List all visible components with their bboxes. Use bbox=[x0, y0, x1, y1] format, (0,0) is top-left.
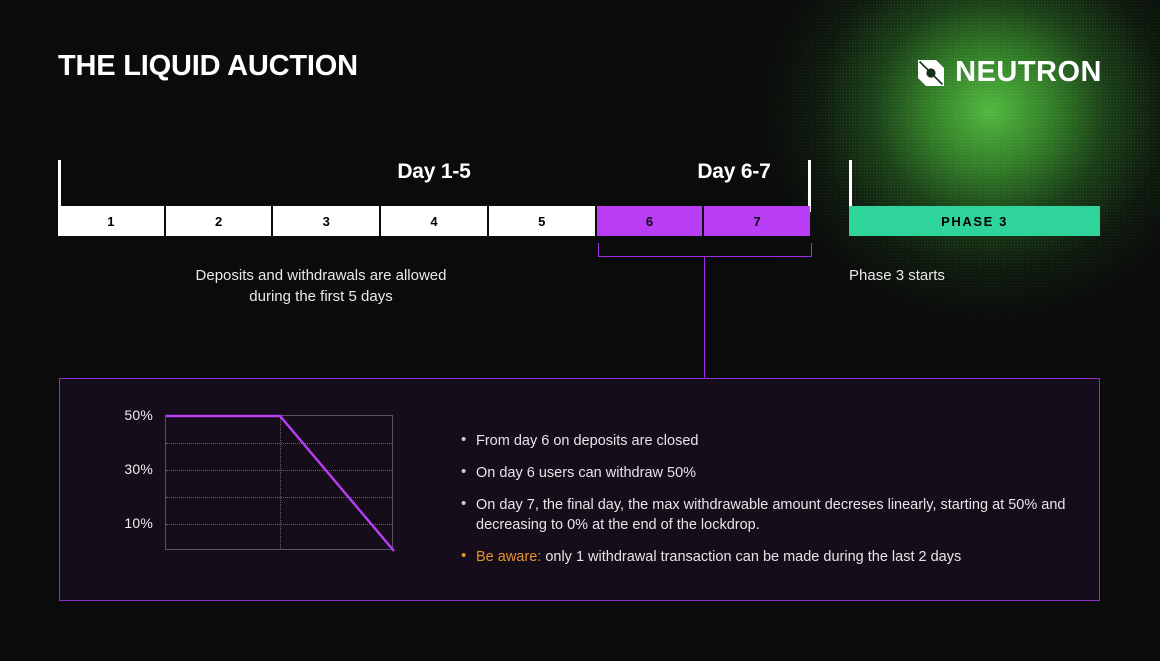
bullet-item-4: Be aware: only 1 withdrawal transaction … bbox=[458, 547, 1068, 567]
day-6-7-bracket bbox=[598, 243, 812, 257]
warning-keyword: Be aware: bbox=[476, 549, 541, 565]
chart-ytick-10: 10% bbox=[124, 515, 153, 531]
chart-plot-area bbox=[165, 415, 393, 550]
phase-3-bar[interactable]: PHASE 3 bbox=[849, 206, 1100, 236]
bullet-item-2: On day 6 users can withdraw 50% bbox=[458, 463, 1068, 483]
day-cell-1[interactable]: 1 bbox=[58, 206, 164, 236]
day-cell-3[interactable]: 3 bbox=[273, 206, 379, 236]
brand-lockup: NEUTRON bbox=[918, 58, 1102, 87]
chart-line-series bbox=[164, 414, 396, 553]
withdrawal-curve-chart: 50% 30% 10% bbox=[108, 415, 443, 565]
chart-ytick-50: 50% bbox=[124, 407, 153, 423]
slide-root: THE LIQUID AUCTION NEUTRON Day 1-5 Day 6… bbox=[0, 0, 1160, 661]
chart-ytick-30: 30% bbox=[124, 461, 153, 477]
day-cell-5[interactable]: 5 bbox=[489, 206, 595, 236]
page-title: THE LIQUID AUCTION bbox=[58, 52, 358, 81]
warning-text: only 1 withdrawal transaction can be mad… bbox=[541, 549, 961, 565]
bullet-list: From day 6 on deposits are closed On day… bbox=[458, 431, 1068, 579]
day-cell-4[interactable]: 4 bbox=[381, 206, 487, 236]
details-panel: 50% 30% 10% From day 6 on deposits are c… bbox=[59, 378, 1100, 601]
bullet-item-3: On day 7, the final day, the max withdra… bbox=[458, 495, 1068, 535]
timeline-tick-end bbox=[808, 160, 811, 212]
day-cell-2[interactable]: 2 bbox=[166, 206, 272, 236]
neutron-atom-icon bbox=[918, 60, 944, 86]
day-cell-6[interactable]: 6 bbox=[597, 206, 703, 236]
caption-deposits-withdrawals: Deposits and withdrawals are allowed dur… bbox=[175, 265, 467, 307]
timeline-tick-start bbox=[58, 160, 61, 212]
bracket-connector-line bbox=[704, 257, 705, 379]
day-cell-7[interactable]: 7 bbox=[704, 206, 810, 236]
timeline-phase-captions: Day 1-5 Day 6-7 bbox=[58, 160, 1100, 206]
brand-name: NEUTRON bbox=[955, 58, 1102, 87]
caption-phase-3-starts: Phase 3 starts bbox=[849, 265, 945, 286]
phase-caption-day-6-7: Day 6-7 bbox=[600, 160, 868, 184]
timeline-day-cells: 1 2 3 4 5 6 7 bbox=[58, 206, 810, 236]
bullet-item-1: From day 6 on deposits are closed bbox=[458, 431, 1068, 451]
